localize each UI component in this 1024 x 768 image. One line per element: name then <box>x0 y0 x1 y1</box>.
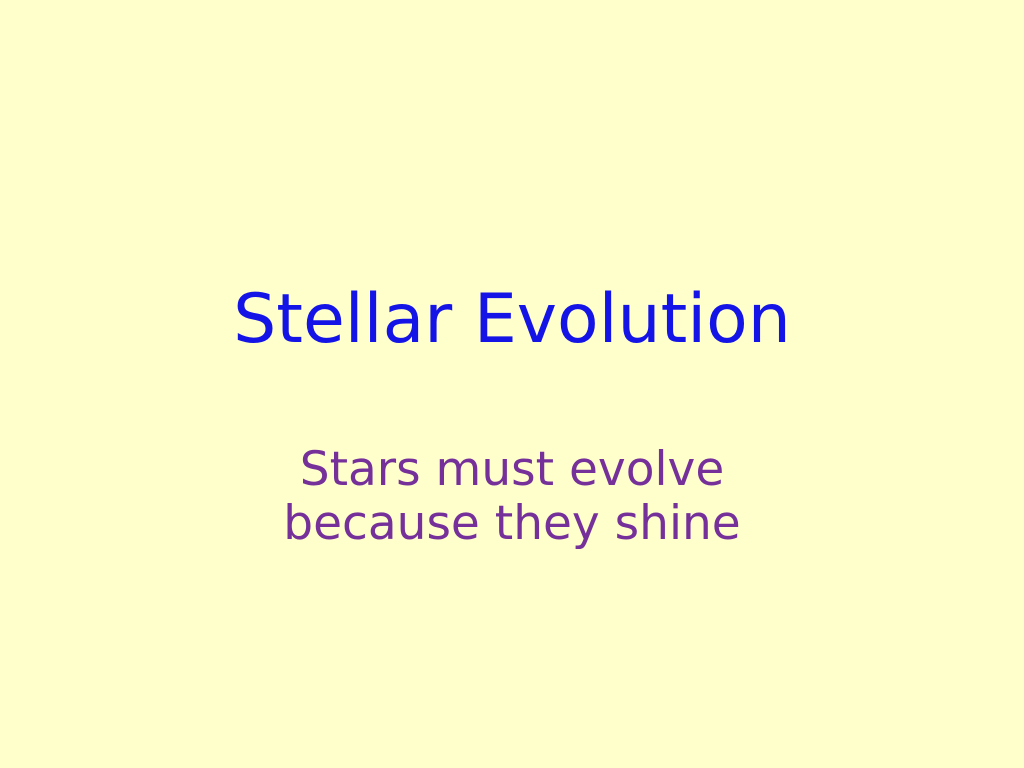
page-title: Stellar Evolution <box>0 278 1024 362</box>
subtitle-line-2: because they shine <box>0 497 1024 551</box>
presentation-slide: Stellar Evolution Stars must evolve beca… <box>0 0 1024 768</box>
slide-subtitle: Stars must evolve because they shine <box>0 443 1024 551</box>
subtitle-line-1: Stars must evolve <box>0 443 1024 497</box>
